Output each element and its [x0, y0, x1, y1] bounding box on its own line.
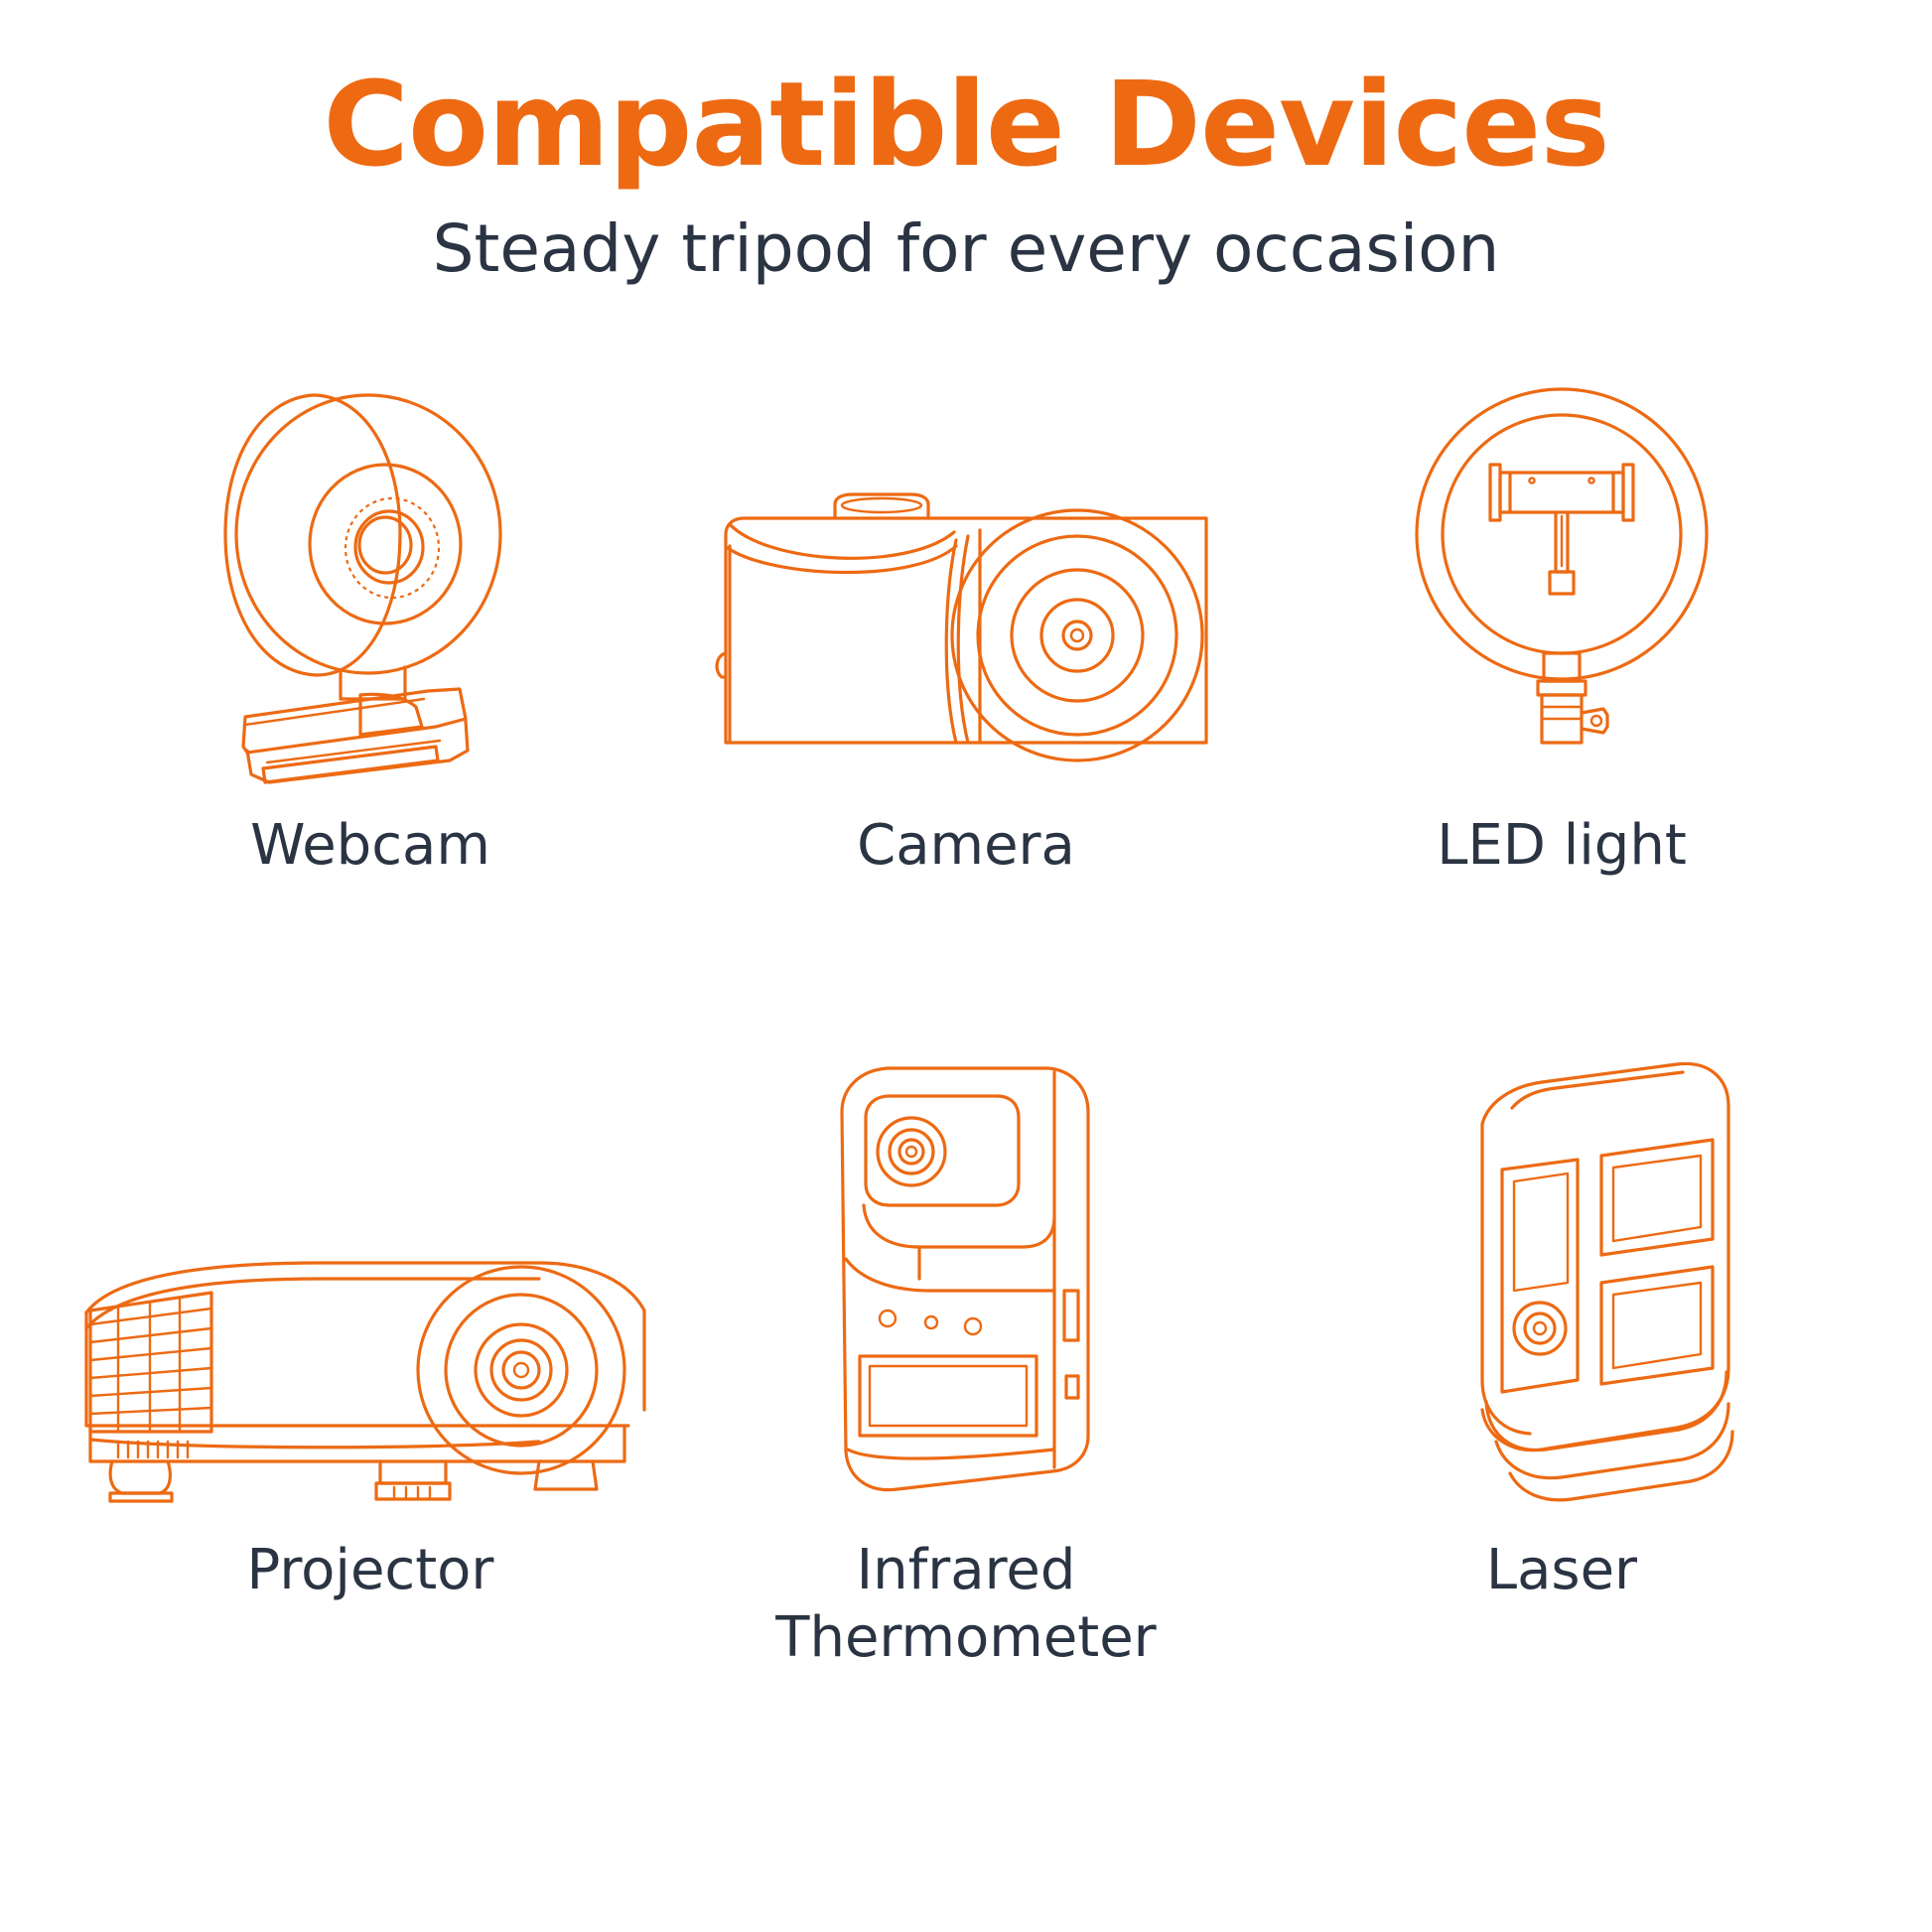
webcam-icon [202, 357, 539, 784]
caption-line-2: Thermometer [775, 1605, 1156, 1670]
camera-art [708, 338, 1224, 784]
device-row-2: Projector [92, 1033, 1840, 1926]
device-cell-laser: Laser [1284, 1033, 1840, 1604]
compatible-devices-infographic: Compatible Devices Steady tripod for eve… [0, 0, 1932, 1932]
device-cell-infrared-thermometer: InfraredThermometer [688, 1033, 1244, 1673]
device-grid: Webcam [92, 338, 1840, 1926]
caption-line-1: Infrared [857, 1538, 1076, 1602]
device-cell-led-light: LED light [1284, 338, 1840, 880]
caption-infrared-thermometer: InfraredThermometer [775, 1537, 1156, 1673]
laser-art [1363, 1033, 1760, 1509]
page-title: Compatible Devices [0, 62, 1932, 188]
device-cell-webcam: Webcam [92, 338, 648, 880]
led-ring-light-icon [1393, 377, 1730, 784]
page-subtitle: Steady tripod for every occasion [0, 213, 1932, 286]
device-cell-projector: Projector [92, 1033, 648, 1604]
infrared-thermometer-art [802, 1033, 1130, 1509]
device-cell-camera: Camera [688, 338, 1244, 880]
caption-camera: Camera [857, 812, 1075, 880]
camera-icon [708, 486, 1224, 784]
device-row-1: Webcam [92, 338, 1840, 1033]
caption-projector: Projector [247, 1537, 494, 1604]
laser-level-icon [1363, 1052, 1760, 1509]
projector-icon [72, 1251, 668, 1509]
header: Compatible Devices Steady tripod for eve… [0, 0, 1932, 286]
infrared-thermometer-icon [802, 1052, 1130, 1509]
projector-art [72, 1033, 668, 1509]
caption-laser: Laser [1486, 1537, 1637, 1604]
caption-led-light: LED light [1437, 812, 1687, 880]
led-light-art [1393, 338, 1730, 784]
caption-webcam: Webcam [250, 812, 490, 880]
webcam-art [202, 338, 539, 784]
